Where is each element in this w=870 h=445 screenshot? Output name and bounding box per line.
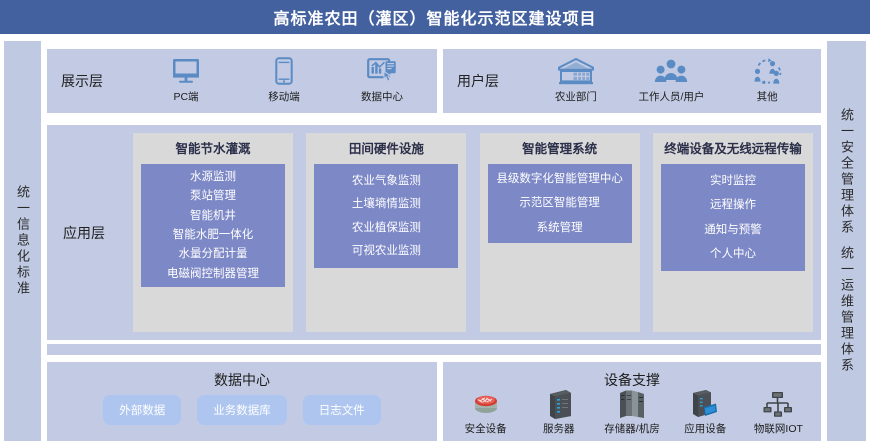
app-card-item[interactable]: 系统管理 — [537, 221, 583, 235]
app-card-smart-irrigation[interactable]: 智能节水灌溉 水源监测 泵站管理 智能机井 智能水肥一体化 水量分配计量 电磁阀… — [133, 133, 293, 332]
app-card-items: 农业气象监测 土壤墒情监测 农业植保监测 可视农业监测 — [314, 164, 458, 269]
security-router-icon — [469, 388, 503, 419]
app-card-item[interactable]: 泵站管理 — [190, 189, 236, 203]
app-card-title: 智能管理系统 — [522, 141, 597, 158]
data-center-pill[interactable]: 日志文件 — [303, 395, 381, 425]
data-center-pill[interactable]: 外部数据 — [103, 395, 181, 425]
page-title: 高标准农田（灌区）智能化示范区建设项目 — [273, 5, 596, 29]
page-title-bar: 高标准农田（灌区）智能化示范区建设项目 — [0, 0, 870, 34]
application-layer-cards: 智能节水灌溉 水源监测 泵站管理 智能机井 智能水肥一体化 水量分配计量 电磁阀… — [133, 133, 813, 332]
left-rail-information-standard: 统一信息化标准 — [4, 41, 41, 441]
device-item-label: 服务器 — [543, 421, 575, 436]
data-dashboard-icon — [367, 55, 397, 87]
device-item-security[interactable]: 安全设备 — [449, 388, 522, 436]
app-card-terminal-transmission[interactable]: 终端设备及无线远程传输 实时监控 远程操作 通知与预警 个人中心 — [653, 133, 813, 332]
device-item-label: 物联网IOT — [754, 421, 803, 436]
app-card-items: 水源监测 泵站管理 智能机井 智能水肥一体化 水量分配计量 电磁阀控制器管理 — [141, 164, 285, 287]
device-item-label: 应用设备 — [684, 421, 726, 436]
app-card-title: 智能节水灌溉 — [175, 141, 250, 158]
storage-rack-icon — [617, 388, 647, 419]
user-item-label: 农业部门 — [555, 89, 597, 104]
left-rail-label: 统一信息化标准 — [16, 185, 29, 297]
user-item-agriculture-dept[interactable]: 农业部门 — [531, 55, 621, 104]
device-item-server[interactable]: 服务器 — [522, 388, 595, 436]
app-card-item[interactable]: 智能机井 — [190, 209, 236, 223]
app-card-item[interactable]: 远程操作 — [710, 198, 756, 212]
device-item-application[interactable]: 应用设备 — [669, 388, 742, 436]
device-support-icon-row: 安全设备 服务 — [449, 388, 815, 436]
right-rail-management-systems: 统一安全管理体系 统一运维管理体系 — [827, 41, 866, 441]
user-item-label: 其他 — [757, 89, 778, 104]
layer-separator-strip — [47, 344, 821, 355]
data-center-pill[interactable]: 业务数据库 — [197, 395, 287, 425]
government-building-icon — [557, 55, 595, 87]
app-card-smart-management[interactable]: 智能管理系统 县级数字化智能管理中心 示范区智能管理 系统管理 — [480, 133, 640, 332]
display-item-data-center[interactable]: 数据中心 — [337, 55, 427, 104]
user-layer-icon-row: 农业部门 工作人员/用户 — [528, 49, 815, 113]
people-group-icon — [654, 55, 688, 87]
app-card-item[interactable]: 水量分配计量 — [179, 247, 248, 261]
data-center-section: 数据中心 外部数据 业务数据库 日志文件 — [47, 362, 437, 441]
user-item-staff[interactable]: 工作人员/用户 — [626, 55, 716, 104]
server-tower-icon — [546, 388, 572, 419]
display-item-label: 数据中心 — [361, 89, 403, 104]
display-layer-section: 展示层 PC端 — [47, 49, 437, 113]
app-card-field-hardware[interactable]: 田间硬件设施 农业气象监测 土壤墒情监测 农业植保监测 可视农业监测 — [306, 133, 466, 332]
right-rail-label-security: 统一安全管理体系 — [840, 108, 853, 236]
app-card-item[interactable]: 智能水肥一体化 — [173, 228, 254, 242]
data-center-pills: 外部数据 业务数据库 日志文件 — [47, 395, 437, 425]
architecture-diagram: 高标准农田（灌区）智能化示范区建设项目 统一信息化标准 统一安全管理体系 统一运… — [0, 0, 870, 445]
application-device-icon — [690, 388, 720, 419]
mobile-phone-icon — [275, 55, 293, 87]
device-item-iot[interactable]: 物联网IOT — [742, 388, 815, 436]
display-item-label: 移动端 — [268, 89, 300, 104]
app-card-item[interactable]: 可视农业监测 — [352, 244, 421, 258]
app-card-item[interactable]: 土壤墒情监测 — [352, 197, 421, 211]
app-card-item[interactable]: 示范区智能管理 — [519, 196, 600, 210]
right-rail-label-operations: 统一运维管理体系 — [840, 246, 853, 374]
device-item-label: 安全设备 — [465, 421, 507, 436]
app-card-title: 终端设备及无线远程传输 — [664, 141, 802, 158]
display-layer-icon-row: PC端 移动端 — [137, 49, 431, 113]
people-cycle-icon — [751, 55, 783, 87]
app-card-item[interactable]: 县级数字化智能管理中心 — [496, 172, 623, 186]
app-card-item[interactable]: 个人中心 — [710, 247, 756, 261]
device-item-label: 存储器/机房 — [604, 421, 659, 436]
device-support-section: 设备支撑 安全设备 — [443, 362, 821, 441]
app-card-item[interactable]: 电磁阀控制器管理 — [167, 267, 259, 281]
monitor-icon — [171, 55, 201, 87]
app-card-title: 田间硬件设施 — [349, 141, 424, 158]
app-card-item[interactable]: 通知与预警 — [704, 223, 762, 237]
app-card-item[interactable]: 农业植保监测 — [352, 221, 421, 235]
display-item-label: PC端 — [173, 89, 198, 104]
app-card-item[interactable]: 农业气象监测 — [352, 174, 421, 188]
display-item-mobile[interactable]: 移动端 — [239, 55, 329, 104]
app-card-items: 县级数字化智能管理中心 示范区智能管理 系统管理 — [488, 164, 632, 243]
user-layer-label: 用户层 — [457, 71, 499, 91]
user-item-label: 工作人员/用户 — [639, 89, 705, 104]
application-layer-section: 应用层 智能节水灌溉 水源监测 泵站管理 智能机井 智能水肥一体化 水量分配计量… — [47, 125, 821, 340]
device-item-storage[interactable]: 存储器/机房 — [595, 388, 668, 436]
display-layer-label: 展示层 — [61, 71, 103, 91]
app-card-item[interactable]: 水源监测 — [190, 170, 236, 184]
data-center-title: 数据中心 — [47, 370, 437, 390]
display-item-pc[interactable]: PC端 — [141, 55, 231, 104]
iot-network-icon — [763, 388, 793, 419]
application-layer-label: 应用层 — [63, 223, 105, 243]
user-layer-section: 用户层 农业部门 — [443, 49, 821, 113]
app-card-items: 实时监控 远程操作 通知与预警 个人中心 — [661, 164, 805, 272]
app-card-item[interactable]: 实时监控 — [710, 174, 756, 188]
device-support-title: 设备支撑 — [443, 370, 821, 390]
user-item-other[interactable]: 其他 — [722, 55, 812, 104]
